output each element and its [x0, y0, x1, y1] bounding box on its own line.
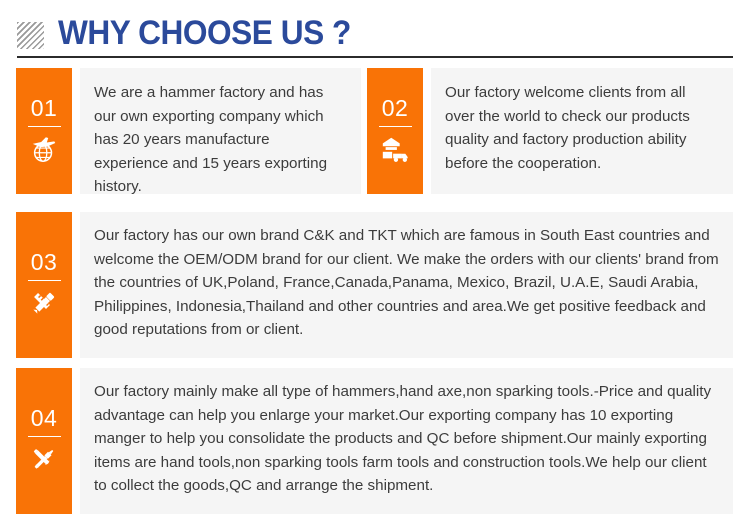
- badge-divider: [28, 126, 61, 127]
- page-title: WHY CHOOSE US ?: [58, 16, 351, 50]
- badge-divider: [28, 436, 61, 437]
- feature-textbox-04: Our factory mainly make all type of hamm…: [80, 368, 733, 514]
- feature-text-03: Our factory has our own brand C&K and TK…: [94, 224, 719, 342]
- globe-airplane-icon: [28, 134, 60, 164]
- feature-number-01: 01: [31, 97, 58, 126]
- feature-text-01: We are a hammer factory and has our own …: [94, 81, 347, 199]
- feature-textbox-03: Our factory has our own brand C&K and TK…: [80, 212, 733, 358]
- feature-card-04: 04 Our fac: [16, 368, 733, 514]
- feature-card-01: 01 We are a hammer factory and has our o…: [16, 68, 361, 194]
- feature-number-02: 02: [382, 97, 409, 126]
- feature-number-04: 04: [31, 407, 58, 436]
- feature-card-03: 03: [16, 212, 733, 358]
- warehouse-truck-icon: [379, 134, 411, 164]
- pencil-ruler-icon: [28, 288, 60, 318]
- feature-text-04: Our factory mainly make all type of hamm…: [94, 380, 719, 498]
- badge-divider: [28, 280, 61, 281]
- feature-badge-03: 03: [16, 212, 72, 358]
- page-header: WHY CHOOSE US ?: [17, 14, 733, 58]
- feature-text-02: Our factory welcome clients from all ove…: [445, 81, 719, 175]
- feature-number-03: 03: [31, 251, 58, 280]
- feature-badge-01: 01: [16, 68, 72, 194]
- feature-badge-02: 02: [367, 68, 423, 194]
- feature-badge-04: 04: [16, 368, 72, 514]
- wrench-screwdriver-icon: [28, 444, 60, 474]
- why-choose-us-page: WHY CHOOSE US ? 01 We are a hammer facto…: [0, 0, 750, 527]
- feature-card-02: 02 Our factory welcome clients from all …: [367, 68, 733, 194]
- badge-divider: [379, 126, 412, 127]
- feature-textbox-01: We are a hammer factory and has our own …: [80, 68, 361, 194]
- feature-textbox-02: Our factory welcome clients from all ove…: [431, 68, 733, 194]
- hatched-square-icon: [17, 22, 44, 49]
